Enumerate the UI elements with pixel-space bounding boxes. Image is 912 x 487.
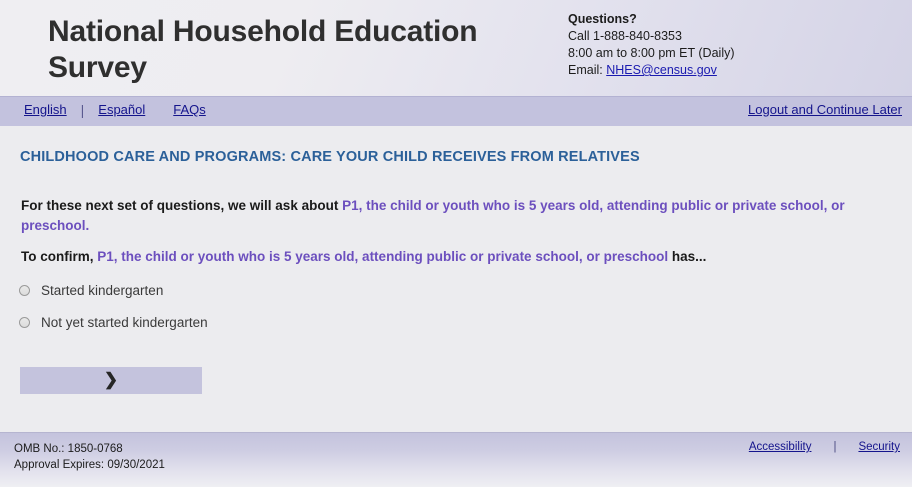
- footer-links: Accessibility | Security: [749, 441, 900, 453]
- radio-button-icon[interactable]: [19, 285, 30, 296]
- radio-option-started-kindergarten[interactable]: Started kindergarten: [19, 274, 208, 306]
- intro-suffix-text: .: [86, 218, 90, 233]
- omb-approval-expires: Approval Expires: 09/30/2021: [14, 457, 165, 473]
- omb-number: OMB No.: 1850-0768: [14, 441, 165, 457]
- nav-links-right: Logout and Continue Later: [748, 102, 902, 117]
- confirm-prefix-text: To confirm,: [21, 249, 97, 264]
- questions-phone: Call 1-888-840-8353: [568, 28, 735, 45]
- confirm-fill-text: P1, the child or youth who is 5 years ol…: [97, 249, 668, 264]
- confirm-paragraph: To confirm, P1, the child or youth who i…: [21, 247, 896, 267]
- questions-hours: 8:00 am to 8:00 pm ET (Daily): [568, 45, 735, 62]
- nav-link-english[interactable]: English: [10, 102, 81, 117]
- section-heading: CHILDHOOD CARE AND PROGRAMS: CARE YOUR C…: [20, 149, 640, 165]
- radio-option-group: Started kindergarten Not yet started kin…: [19, 274, 208, 338]
- nav-links-left: English | Español FAQs: [10, 102, 220, 117]
- accessibility-link[interactable]: Accessibility: [749, 441, 812, 453]
- questions-heading: Questions?: [568, 11, 735, 28]
- radio-option-label: Started kindergarten: [41, 283, 163, 298]
- questions-contact-block: Questions? Call 1-888-840-8353 8:00 am t…: [568, 11, 735, 79]
- footer-separator: |: [811, 441, 858, 453]
- confirm-suffix-text: has...: [668, 249, 706, 264]
- page-title: National Household Education Survey: [48, 14, 548, 86]
- site-footer: OMB No.: 1850-0768 Approval Expires: 09/…: [0, 432, 912, 487]
- intro-paragraph: For these next set of questions, we will…: [21, 196, 896, 236]
- radio-option-not-yet-started-kindergarten[interactable]: Not yet started kindergarten: [19, 306, 208, 338]
- logout-and-continue-later-link[interactable]: Logout and Continue Later: [748, 102, 902, 117]
- next-button[interactable]: ❯: [20, 367, 202, 394]
- questions-email-label: Email:: [568, 63, 603, 77]
- nav-link-faqs[interactable]: FAQs: [159, 102, 220, 117]
- questions-email-line: Email: NHES@census.gov: [568, 62, 735, 79]
- intro-prefix-text: For these next set of questions, we will…: [21, 198, 342, 213]
- radio-option-label: Not yet started kindergarten: [41, 315, 208, 330]
- radio-button-icon[interactable]: [19, 317, 30, 328]
- site-header: National Household Education Survey Ques…: [0, 0, 912, 96]
- omb-info: OMB No.: 1850-0768 Approval Expires: 09/…: [14, 441, 165, 473]
- nav-link-espanol[interactable]: Español: [84, 102, 159, 117]
- main-content: CHILDHOOD CARE AND PROGRAMS: CARE YOUR C…: [0, 126, 912, 432]
- email-link[interactable]: NHES@census.gov: [606, 63, 717, 77]
- chevron-right-icon: ❯: [104, 371, 118, 388]
- security-link[interactable]: Security: [858, 441, 900, 453]
- navigation-bar: English | Español FAQs Logout and Contin…: [0, 96, 912, 126]
